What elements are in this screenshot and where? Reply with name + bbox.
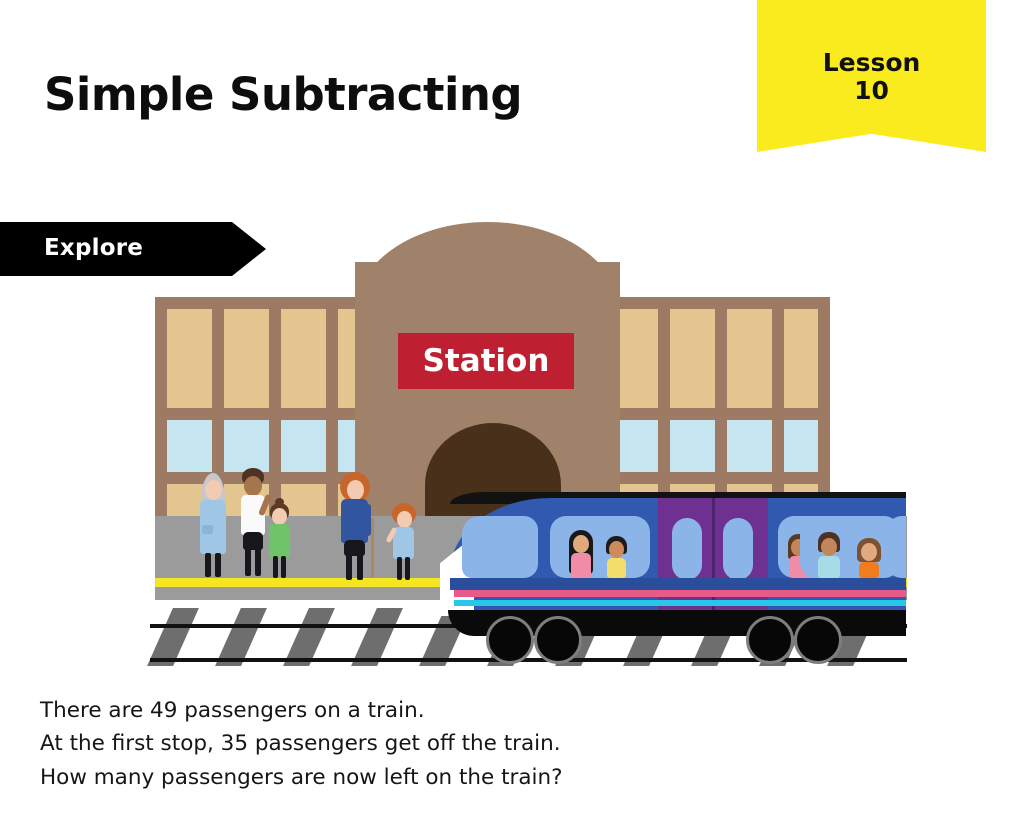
train-passenger — [603, 536, 631, 578]
train-wheel — [746, 616, 794, 664]
train-door-window — [672, 518, 702, 580]
platform-person-white-shirt — [236, 468, 270, 578]
platform-person-child-green — [266, 498, 294, 578]
walking-cane — [371, 518, 374, 578]
building-window — [224, 420, 269, 472]
building-window — [670, 420, 715, 472]
building-window — [281, 420, 326, 472]
platform-person-woman-with-cane — [337, 472, 377, 580]
train-window — [550, 516, 650, 578]
train-wheel — [534, 616, 582, 664]
building-window — [727, 420, 772, 472]
building-window — [167, 420, 212, 472]
train-lower-shade — [450, 578, 906, 590]
worksheet-page: Simple Subtracting Lesson 10 Explore — [0, 0, 1011, 817]
train-windscreen — [462, 516, 538, 578]
question-line-3: How many passengers are now left on the … — [40, 761, 740, 794]
train-door-window — [723, 518, 753, 580]
train-window — [800, 516, 900, 578]
train-wheel — [794, 616, 842, 664]
track-rail — [150, 658, 907, 662]
train-passenger — [566, 530, 596, 578]
building-panel — [784, 309, 818, 408]
building-window — [784, 420, 818, 472]
question-line-2: At the first stop, 35 passengers get off… — [40, 727, 740, 760]
question-text: There are 49 passengers on a train. At t… — [40, 694, 740, 794]
station-sign: Station — [398, 333, 574, 389]
platform-person-child-blue — [389, 503, 419, 580]
platform-person-elderly-woman — [196, 473, 230, 578]
building-panel — [670, 309, 715, 408]
building-panel — [281, 309, 326, 408]
train-passenger — [854, 538, 884, 578]
building-panel — [727, 309, 772, 408]
question-line-1: There are 49 passengers on a train. — [40, 694, 740, 727]
building-panel — [167, 309, 212, 408]
station-sign-label: Station — [398, 343, 574, 379]
train-stripe-cyan — [454, 600, 906, 606]
train-wheel — [486, 616, 534, 664]
train-stripe-pink — [454, 590, 906, 597]
building-panel — [224, 309, 269, 408]
train-passenger — [814, 532, 844, 578]
